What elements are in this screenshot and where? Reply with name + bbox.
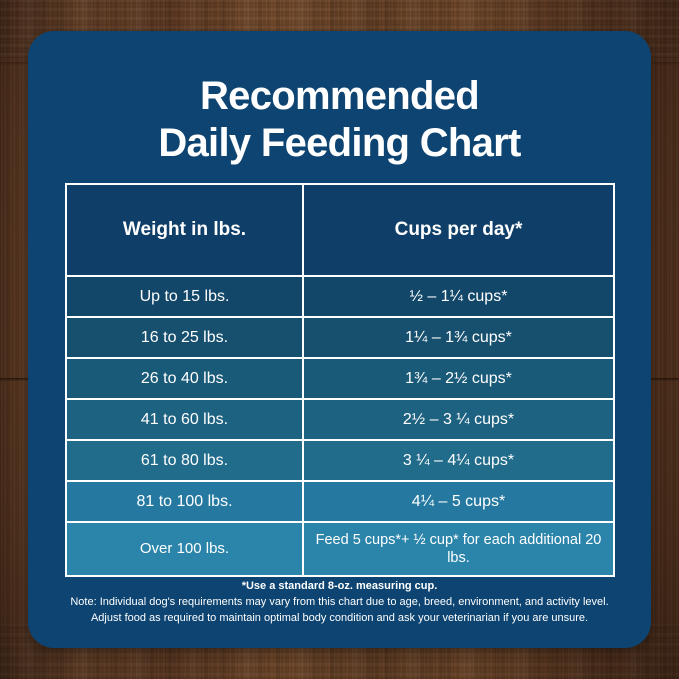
cell-cups: Feed 5 cups*+ ½ cup* for each additional… <box>304 523 613 575</box>
table-row: 61 to 80 lbs.3 ¼ – 4¼ cups* <box>67 441 613 480</box>
page-title: Recommended Daily Feeding Chart <box>28 73 651 167</box>
cell-weight: 61 to 80 lbs. <box>67 441 302 480</box>
column-header-weight: Weight in lbs. <box>67 185 302 275</box>
cell-cups: 3 ¼ – 4¼ cups* <box>304 441 613 480</box>
table-row: 26 to 40 lbs.1¾ – 2½ cups* <box>67 359 613 398</box>
table-row: 41 to 60 lbs.2½ – 3 ¼ cups* <box>67 400 613 439</box>
table-row: 81 to 100 lbs.4¼ – 5 cups* <box>67 482 613 521</box>
table-row: 16 to 25 lbs.1¼ – 1¾ cups* <box>67 318 613 357</box>
cell-cups: 1¾ – 2½ cups* <box>304 359 613 398</box>
cell-cups: 4¼ – 5 cups* <box>304 482 613 521</box>
table-header-row: Weight in lbs.Cups per day* <box>67 185 613 275</box>
footnotes: *Use a standard 8-oz. measuring cup. Not… <box>50 579 629 627</box>
cell-weight: 41 to 60 lbs. <box>67 400 302 439</box>
cell-cups: ½ – 1¼ cups* <box>304 277 613 316</box>
title-line-1: Recommended <box>28 73 651 120</box>
title-line-2: Daily Feeding Chart <box>28 120 651 167</box>
feeding-chart-card: Recommended Daily Feeding Chart Weight i… <box>28 31 651 648</box>
cell-weight: Over 100 lbs. <box>67 523 302 575</box>
footnote-adjust: Adjust food as required to maintain opti… <box>50 611 629 627</box>
footnote-variation: Note: Individual dog's requirements may … <box>50 595 629 611</box>
cell-weight: 26 to 40 lbs. <box>67 359 302 398</box>
cell-cups: 2½ – 3 ¼ cups* <box>304 400 613 439</box>
cell-weight: 81 to 100 lbs. <box>67 482 302 521</box>
footnote-measuring-cup: *Use a standard 8-oz. measuring cup. <box>50 579 629 595</box>
table-row: Up to 15 lbs.½ – 1¼ cups* <box>67 277 613 316</box>
feeding-table: Weight in lbs.Cups per day*Up to 15 lbs.… <box>65 183 615 577</box>
cell-cups: 1¼ – 1¾ cups* <box>304 318 613 357</box>
cell-weight: 16 to 25 lbs. <box>67 318 302 357</box>
column-header-cups: Cups per day* <box>304 185 613 275</box>
cell-weight: Up to 15 lbs. <box>67 277 302 316</box>
table-row: Over 100 lbs.Feed 5 cups*+ ½ cup* for ea… <box>67 523 613 575</box>
